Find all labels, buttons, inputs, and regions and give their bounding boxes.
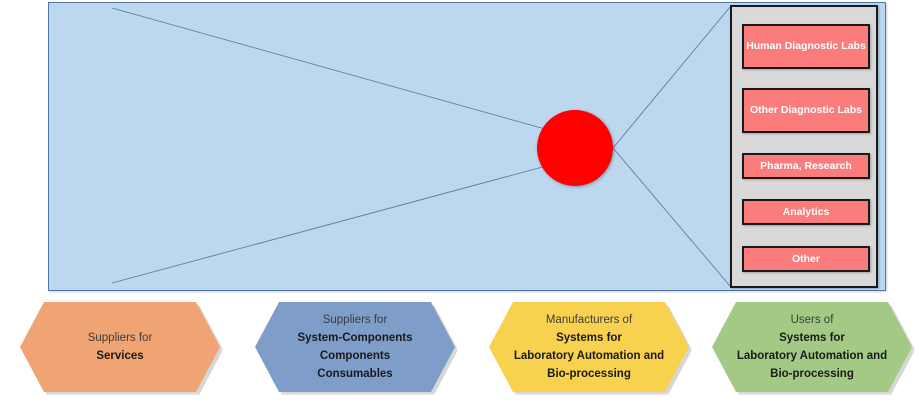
diagram-canvas: Human Diagnostic LabsOther Diagnostic La… bbox=[0, 0, 919, 404]
role-hexagon-lead: Users of bbox=[791, 311, 834, 329]
role-hexagon-users-systems[interactable]: Users ofSystems forLaboratory Automation… bbox=[712, 302, 912, 392]
role-hexagon-line: Bio-processing bbox=[547, 365, 631, 383]
role-hexagon-line: Laboratory Automation and bbox=[737, 347, 887, 365]
role-hexagon-line: Services bbox=[96, 347, 143, 365]
customer-segment-chip[interactable]: Analytics bbox=[742, 199, 870, 225]
role-hexagon-lead: Suppliers for bbox=[323, 311, 388, 329]
hub-circle[interactable] bbox=[537, 110, 613, 186]
role-hexagon-suppliers-services[interactable]: Suppliers forServices bbox=[20, 302, 220, 392]
role-hexagon-manufacturers-systems[interactable]: Manufacturers ofSystems forLaboratory Au… bbox=[489, 302, 689, 392]
customer-segment-chip[interactable]: Pharma, Research bbox=[742, 153, 870, 179]
customer-segment-chip[interactable]: Other Diagnostic Labs bbox=[742, 88, 870, 133]
customer-segment-chip[interactable]: Other bbox=[742, 246, 870, 272]
role-hexagon-lead: Manufacturers of bbox=[546, 311, 632, 329]
role-hexagon-line: Systems for bbox=[779, 329, 845, 347]
role-hexagon-line: Bio-processing bbox=[770, 365, 854, 383]
customer-segments-panel: Human Diagnostic LabsOther Diagnostic La… bbox=[730, 5, 878, 288]
customer-segment-chip[interactable]: Human Diagnostic Labs bbox=[742, 24, 870, 69]
role-hexagon-line: Systems for bbox=[556, 329, 622, 347]
role-hexagon-line: Laboratory Automation and bbox=[514, 347, 664, 365]
role-hexagon-line: System-Components bbox=[297, 329, 412, 347]
role-hexagon-line: Consumables bbox=[317, 365, 392, 383]
role-hexagon-lead: Suppliers for bbox=[88, 329, 153, 347]
role-hexagon-suppliers-components[interactable]: Suppliers forSystem-ComponentsComponents… bbox=[255, 302, 455, 392]
role-hexagon-line: Components bbox=[320, 347, 390, 365]
